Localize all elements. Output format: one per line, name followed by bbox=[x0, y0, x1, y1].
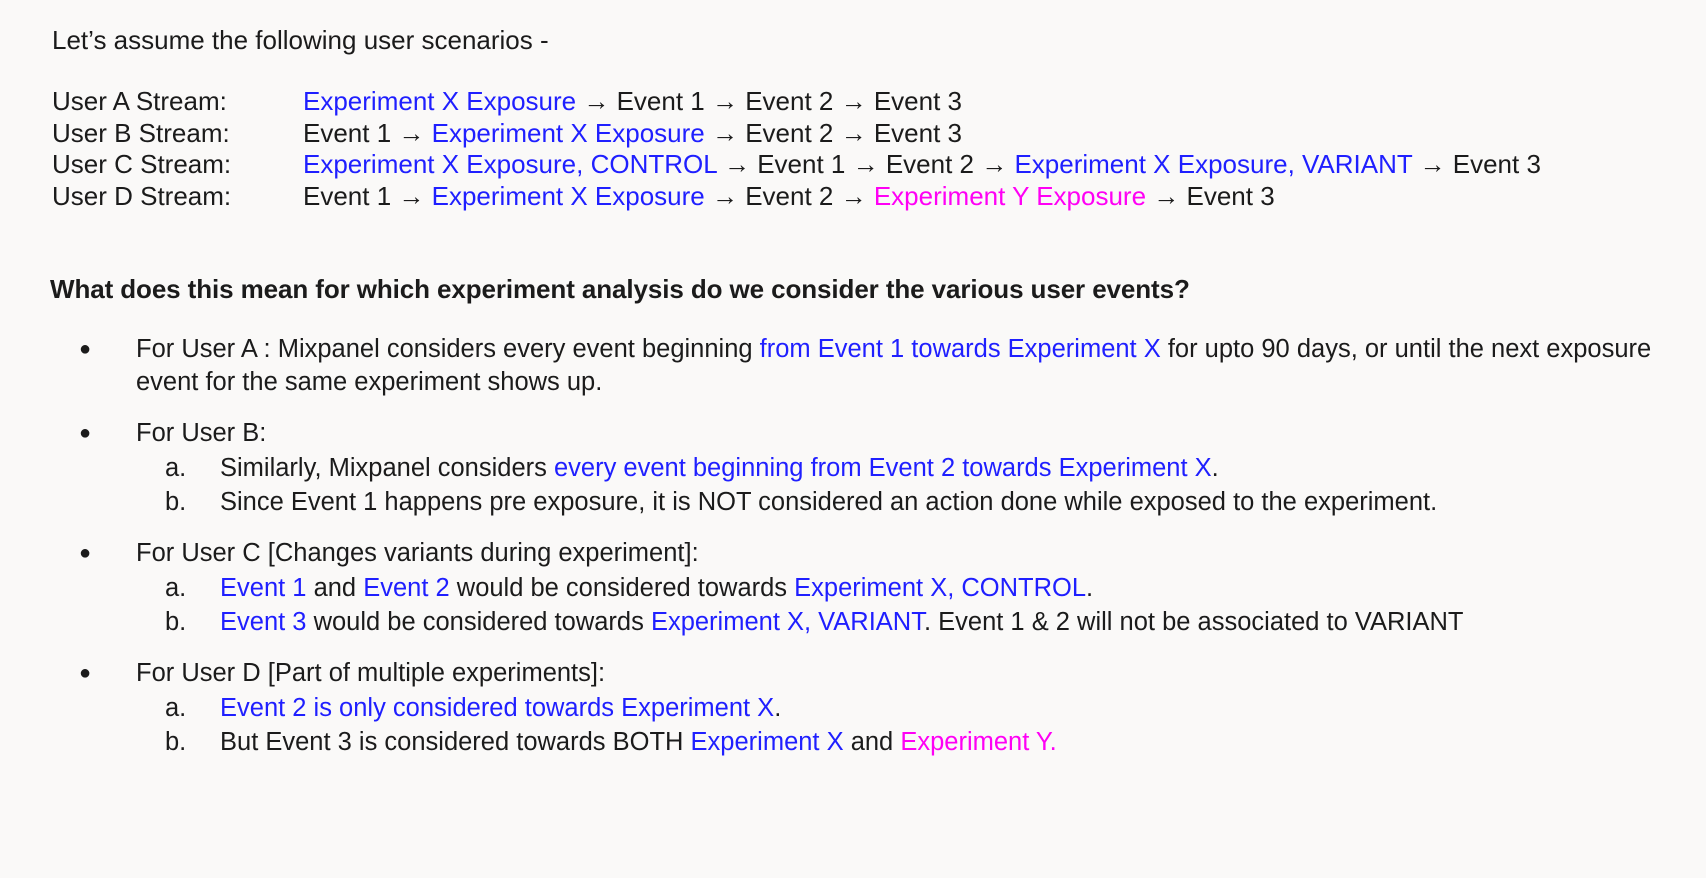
sub-list: a.Event 2 is only considered towards Exp… bbox=[52, 692, 1672, 759]
user-stream-flow: Experiment X Exposure → Event 1 → Event … bbox=[303, 86, 962, 118]
sub-list-item: b.Since Event 1 happens pre exposure, it… bbox=[52, 486, 1672, 520]
stream-segment: Event 2 bbox=[745, 118, 833, 148]
stream-segment: Experiment Y Exposure bbox=[874, 181, 1146, 211]
sub-segment: But Event 3 is considered towards BOTH bbox=[220, 728, 691, 756]
sub-list-item: a.Event 1 and Event 2 would be considere… bbox=[52, 572, 1672, 606]
stream-segment: → bbox=[717, 149, 757, 179]
sub-list-text: Event 3 would be considered towards Expe… bbox=[220, 608, 1464, 636]
stream-segment: Event 3 bbox=[1186, 181, 1274, 211]
user-stream-row: User A Stream:Experiment X Exposure → Ev… bbox=[52, 86, 1541, 118]
user-stream-flow: Experiment X Exposure, CONTROL → Event 1… bbox=[303, 149, 1541, 181]
stream-segment: Experiment X Exposure bbox=[432, 118, 705, 148]
user-stream-label: User C Stream: bbox=[52, 149, 303, 181]
sub-list-marker: a. bbox=[165, 692, 186, 726]
stream-segment: → bbox=[705, 181, 745, 211]
bullet-marker-icon: ● bbox=[79, 417, 91, 450]
stream-segment: Event 1 bbox=[617, 86, 705, 116]
user-stream-label: User B Stream: bbox=[52, 118, 303, 150]
bullet-text: For User B: bbox=[136, 417, 1672, 450]
sub-list-item: b.But Event 3 is considered towards BOTH… bbox=[52, 726, 1672, 760]
sub-segment: every event beginning from Event 2 towar… bbox=[554, 454, 1212, 482]
sub-list: a.Event 1 and Event 2 would be considere… bbox=[52, 572, 1672, 639]
bullet-group: ●For User D [Part of multiple experiment… bbox=[52, 657, 1672, 759]
sub-list: a.Similarly, Mixpanel considers every ev… bbox=[52, 452, 1672, 519]
stream-segment: Event 3 bbox=[874, 118, 962, 148]
bullet-item: ●For User A : Mixpanel considers every e… bbox=[52, 333, 1672, 399]
user-stream-flow: Event 1 → Experiment X Exposure → Event … bbox=[303, 181, 1275, 213]
stream-segment: → bbox=[833, 118, 873, 148]
sub-list-text: Similarly, Mixpanel considers every even… bbox=[220, 454, 1219, 482]
document-page: Let’s assume the following user scenario… bbox=[0, 0, 1706, 878]
user-stream-row: User C Stream:Experiment X Exposure, CON… bbox=[52, 149, 1541, 181]
sub-segment: . bbox=[1086, 574, 1093, 602]
sub-segment: . bbox=[774, 694, 781, 722]
bullet-text: For User D [Part of multiple experiments… bbox=[136, 657, 1672, 690]
sub-list-marker: b. bbox=[165, 606, 186, 640]
question-heading: What does this mean for which experiment… bbox=[50, 272, 1190, 306]
sub-segment: would be considered towards bbox=[306, 608, 650, 636]
bullet-segment: For User A : Mixpanel considers every ev… bbox=[136, 335, 760, 363]
bullet-item: ●For User C [Changes variants during exp… bbox=[52, 537, 1672, 570]
bullet-segment: For User B: bbox=[136, 419, 266, 447]
sub-segment: Experiment Y. bbox=[900, 728, 1056, 756]
sub-list-item: a.Event 2 is only considered towards Exp… bbox=[52, 692, 1672, 726]
sub-segment: . Event 1 & 2 will not be associated to … bbox=[924, 608, 1464, 636]
stream-segment: → bbox=[974, 149, 1014, 179]
stream-segment: Event 1 bbox=[303, 181, 391, 211]
stream-segment: → bbox=[845, 149, 885, 179]
stream-segment: → bbox=[391, 118, 431, 148]
bullet-group: ●For User B:a.Similarly, Mixpanel consid… bbox=[52, 417, 1672, 519]
sub-list-marker: a. bbox=[165, 572, 186, 606]
bullet-segment: For User C [Changes variants during expe… bbox=[136, 539, 699, 567]
stream-segment: → bbox=[833, 181, 873, 211]
sub-list-text: But Event 3 is considered towards BOTH E… bbox=[220, 728, 1057, 756]
user-stream-row: User B Stream:Event 1 → Experiment X Exp… bbox=[52, 118, 1541, 150]
stream-segment: Event 2 bbox=[886, 149, 974, 179]
sub-segment: Since Event 1 happens pre exposure, it i… bbox=[220, 488, 1437, 516]
stream-segment: → bbox=[391, 181, 431, 211]
bullet-group: ●For User C [Changes variants during exp… bbox=[52, 537, 1672, 639]
sub-segment: Experiment X, VARIANT bbox=[651, 608, 924, 636]
bullet-text: For User A : Mixpanel considers every ev… bbox=[136, 333, 1672, 399]
stream-segment: → bbox=[833, 86, 873, 116]
sub-segment: Experiment X, CONTROL bbox=[794, 574, 1086, 602]
stream-segment: Experiment X Exposure bbox=[432, 181, 705, 211]
user-streams-list: User A Stream:Experiment X Exposure → Ev… bbox=[52, 86, 1541, 212]
bullet-group: ●For User A : Mixpanel considers every e… bbox=[52, 333, 1672, 399]
sub-list-item: a.Similarly, Mixpanel considers every ev… bbox=[52, 452, 1672, 486]
sub-segment: Experiment X bbox=[691, 728, 844, 756]
sub-list-text: Since Event 1 happens pre exposure, it i… bbox=[220, 488, 1437, 516]
sub-segment: Event 2 is only considered towards Exper… bbox=[220, 694, 774, 722]
sub-segment: Similarly, Mixpanel considers bbox=[220, 454, 554, 482]
bullet-marker-icon: ● bbox=[79, 537, 91, 570]
stream-segment: Event 3 bbox=[1453, 149, 1541, 179]
sub-list-marker: b. bbox=[165, 726, 186, 760]
sub-segment: . bbox=[1212, 454, 1219, 482]
stream-segment: Event 1 bbox=[303, 118, 391, 148]
bullet-segment: For User D [Part of multiple experiments… bbox=[136, 659, 605, 687]
user-stream-flow: Event 1 → Experiment X Exposure → Event … bbox=[303, 118, 962, 150]
sub-segment: and bbox=[844, 728, 901, 756]
sub-segment: Event 1 bbox=[220, 574, 306, 602]
stream-segment: Experiment X Exposure, CONTROL bbox=[303, 149, 717, 179]
sub-segment: would be considered towards bbox=[450, 574, 794, 602]
bullet-marker-icon: ● bbox=[79, 657, 91, 690]
sub-list-item: b.Event 3 would be considered towards Ex… bbox=[52, 606, 1672, 640]
bullet-text: For User C [Changes variants during expe… bbox=[136, 537, 1672, 570]
stream-segment: Event 1 bbox=[757, 149, 845, 179]
stream-segment: Event 2 bbox=[745, 181, 833, 211]
sub-segment: Event 2 bbox=[363, 574, 449, 602]
stream-segment: Event 3 bbox=[874, 86, 962, 116]
bullet-item: ●For User B: bbox=[52, 417, 1672, 450]
stream-segment: → bbox=[1412, 149, 1452, 179]
sub-list-text: Event 2 is only considered towards Exper… bbox=[220, 694, 781, 722]
analysis-bullet-list: ●For User A : Mixpanel considers every e… bbox=[52, 333, 1672, 759]
sub-list-text: Event 1 and Event 2 would be considered … bbox=[220, 574, 1093, 602]
stream-segment: → bbox=[1146, 181, 1186, 211]
bullet-item: ●For User D [Part of multiple experiment… bbox=[52, 657, 1672, 690]
stream-segment: → bbox=[705, 86, 745, 116]
stream-segment: → bbox=[576, 86, 616, 116]
user-stream-label: User A Stream: bbox=[52, 86, 303, 118]
stream-segment: → bbox=[705, 118, 745, 148]
sub-list-marker: b. bbox=[165, 486, 186, 520]
sub-segment: Event 3 bbox=[220, 608, 306, 636]
bullet-segment: from Event 1 towards Experiment X bbox=[760, 335, 1161, 363]
user-stream-row: User D Stream:Event 1 → Experiment X Exp… bbox=[52, 181, 1541, 213]
stream-segment: Experiment X Exposure, VARIANT bbox=[1014, 149, 1412, 179]
bullet-marker-icon: ● bbox=[79, 333, 91, 366]
user-stream-label: User D Stream: bbox=[52, 181, 303, 213]
stream-segment: Experiment X Exposure bbox=[303, 86, 576, 116]
intro-paragraph: Let’s assume the following user scenario… bbox=[52, 23, 549, 57]
sub-list-marker: a. bbox=[165, 452, 186, 486]
sub-segment: and bbox=[306, 574, 363, 602]
stream-segment: Event 2 bbox=[745, 86, 833, 116]
